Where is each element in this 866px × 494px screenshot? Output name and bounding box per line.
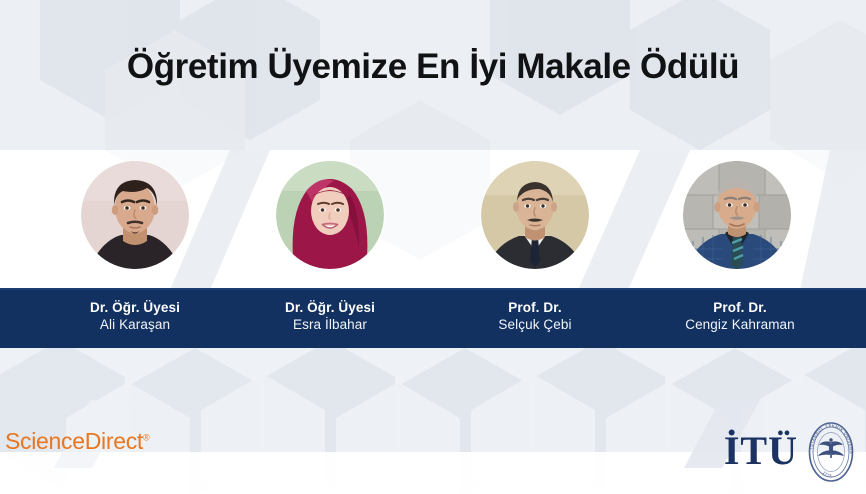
registered-trademark-icon: ® <box>143 432 149 442</box>
person-role: Dr. Öğr. Üyesi <box>40 299 230 316</box>
person-label-2: Prof. Dr. Selçuk Çebi <box>440 299 630 334</box>
person-name: Cengiz Kahraman <box>645 316 835 334</box>
portrait-ali-karasan-image <box>81 161 189 269</box>
person-card-2[interactable] <box>450 161 620 269</box>
band-top-edge <box>0 288 866 290</box>
portrait-esra-ilbahar-image <box>276 161 384 269</box>
avatar <box>81 161 189 269</box>
sciencedirect-logo[interactable]: ScienceDirect® <box>5 428 149 455</box>
person-name: Ali Karaşan <box>40 316 230 334</box>
award-poster: Öğretim Üyemize En İyi Makale Ödülü <box>0 0 866 494</box>
sciencedirect-wordmark: ScienceDirect <box>5 428 143 454</box>
person-label-1: Dr. Öğr. Üyesi Esra İlbahar <box>235 299 425 334</box>
itu-wordmark: İTÜ <box>724 429 798 473</box>
person-label-0: Dr. Öğr. Üyesi Ali Karaşan <box>40 299 230 334</box>
person-card-1[interactable] <box>245 161 415 269</box>
person-role: Prof. Dr. <box>645 299 835 316</box>
person-card-3[interactable] <box>652 161 822 269</box>
avatar <box>481 161 589 269</box>
person-role: Dr. Öğr. Üyesi <box>235 299 425 316</box>
person-role: Prof. Dr. <box>440 299 630 316</box>
portrait-selcuk-cebi-image <box>481 161 589 269</box>
avatar <box>276 161 384 269</box>
person-label-3: Prof. Dr. Cengiz Kahraman <box>645 299 835 334</box>
page-title: Öğretim Üyemize En İyi Makale Ödülü <box>0 47 866 87</box>
itu-logo[interactable]: İTÜ İSTANBUL TEKNİK ÜNİVERSİTESİ 1773 <box>724 418 858 484</box>
person-name: Esra İlbahar <box>235 316 425 334</box>
person-name: Selçuk Çebi <box>440 316 630 334</box>
avatar <box>683 161 791 269</box>
person-card-0[interactable] <box>50 161 220 269</box>
portrait-cengiz-kahraman-image <box>683 161 791 269</box>
itu-seal-icon: İSTANBUL TEKNİK ÜNİVERSİTESİ 1773 <box>804 418 858 484</box>
